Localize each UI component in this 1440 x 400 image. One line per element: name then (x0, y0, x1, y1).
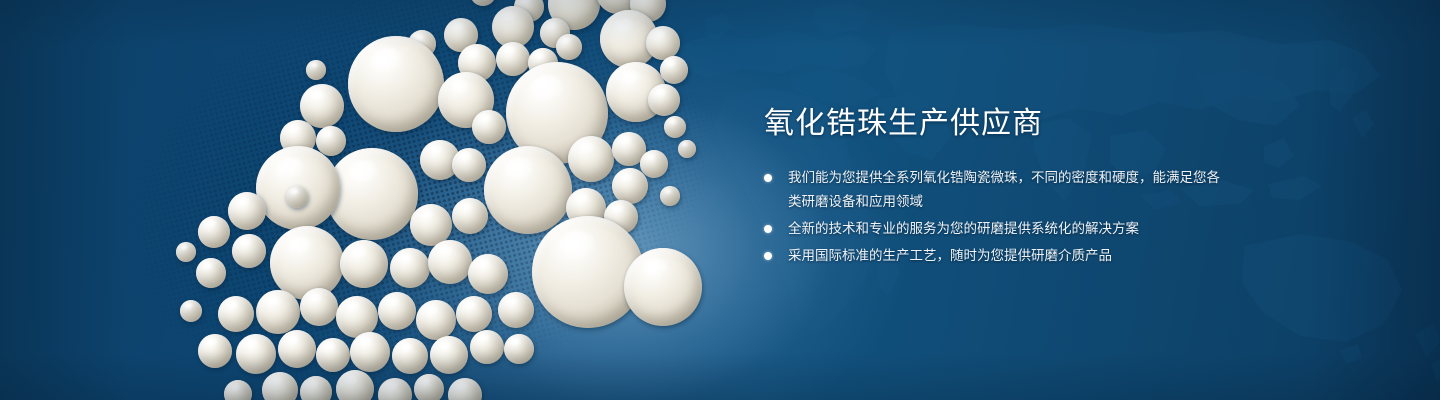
bullet-dot-icon (764, 252, 772, 260)
hero-banner: 氧化锆珠生产供应商 我们能为您提供全系列氧化锆陶瓷微珠，不同的密度和硬度，能满足… (0, 0, 1440, 400)
feature-bullet-text: 我们能为您提供全系列氧化锆陶瓷微珠，不同的密度和硬度，能满足您各类研磨设备和应用… (788, 170, 1220, 209)
feature-bullet-item: 我们能为您提供全系列氧化锆陶瓷微珠，不同的密度和硬度，能满足您各类研磨设备和应用… (762, 166, 1232, 214)
banner-headline: 氧化锆珠生产供应商 (764, 104, 1232, 144)
feature-bullet-text: 全新的技术和专业的服务为您的研磨提供系统化的解决方案 (788, 221, 1139, 236)
feature-bullet-item: 采用国际标准的生产工艺，随时为您提供研磨介质产品 (762, 244, 1232, 268)
feature-bullet-list: 我们能为您提供全系列氧化锆陶瓷微珠，不同的密度和硬度，能满足您各类研磨设备和应用… (762, 166, 1232, 268)
feature-bullet-text: 采用国际标准的生产工艺，随时为您提供研磨介质产品 (788, 248, 1112, 263)
bullet-dot-icon (764, 225, 772, 233)
banner-copy: 氧化锆珠生产供应商 我们能为您提供全系列氧化锆陶瓷微珠，不同的密度和硬度，能满足… (762, 104, 1232, 271)
feature-bullet-item: 全新的技术和专业的服务为您的研磨提供系统化的解决方案 (762, 217, 1232, 241)
bullet-dot-icon (764, 174, 772, 182)
